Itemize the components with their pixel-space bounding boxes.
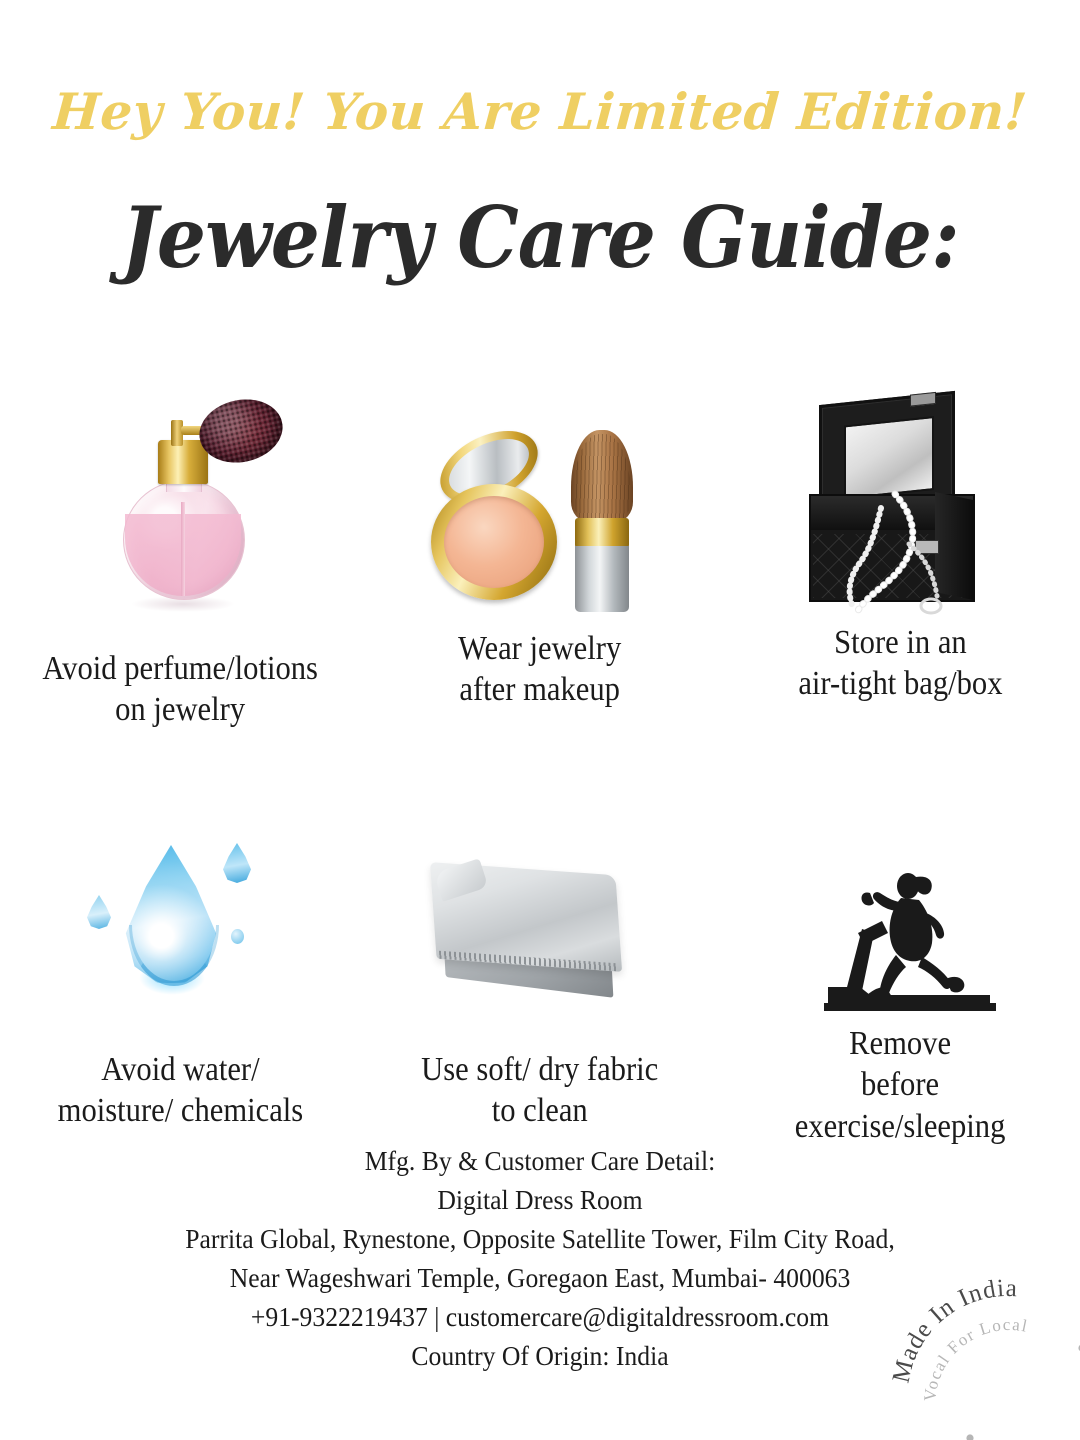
droplet-small-left bbox=[87, 895, 111, 929]
tip-caption: Avoid water/ moisture/ chemicals bbox=[57, 1049, 303, 1132]
care-guide-page: Hey You! You Are Limited Edition! Jewelr… bbox=[0, 0, 1080, 1440]
footer-line: Mfg. By & Customer Care Detail: bbox=[27, 1142, 1053, 1181]
droplet-small-top bbox=[223, 843, 251, 883]
tips-grid: Avoid perfume/lotions on jewelry Wear je… bbox=[0, 372, 1080, 1147]
tips-row-2: Avoid water/ moisture/ chemicals Use sof… bbox=[0, 823, 1080, 1147]
treadmill-runner-icon bbox=[720, 823, 1080, 1023]
tip-caption: Remove before exercise/sleeping bbox=[795, 1023, 1006, 1147]
made-in-india-badge: Made In India Vocal For Local bbox=[886, 1262, 1080, 1440]
tip-card-soft-cloth: Use soft/ dry fabric to clean bbox=[360, 823, 720, 1147]
compact-powder-base bbox=[431, 484, 557, 600]
tip-caption: Wear jewelry after makeup bbox=[458, 628, 621, 711]
tip-caption: Use soft/ dry fabric to clean bbox=[421, 1049, 658, 1132]
brush-bristles bbox=[571, 430, 633, 522]
tip-card-remove-before-exercise: Remove before exercise/sleeping bbox=[720, 823, 1080, 1147]
badge-dot-left bbox=[966, 1434, 973, 1440]
page-title: Jewelry Care Guide: bbox=[43, 188, 1037, 287]
perfume-gold-collar bbox=[158, 440, 208, 484]
jewelry-box-icon bbox=[720, 372, 1080, 622]
tagline: Hey You! You Are Limited Edition! bbox=[0, 82, 1080, 141]
perfume-tube bbox=[181, 502, 185, 596]
tip-card-avoid-perfume: Avoid perfume/lotions on jewelry bbox=[0, 372, 360, 731]
polishing-cloth-icon bbox=[360, 823, 720, 1023]
footer-line: Parrita Global, Rynestone, Opposite Sate… bbox=[27, 1220, 1053, 1259]
brush-gold-ferrule bbox=[575, 518, 629, 548]
tips-row-1: Avoid perfume/lotions on jewelry Wear je… bbox=[0, 372, 1080, 731]
perfume-atomizer-icon bbox=[0, 372, 360, 622]
water-droplet-icon bbox=[0, 823, 360, 1023]
brush-silver-handle bbox=[575, 546, 629, 612]
tip-caption: Store in an air-tight bag/box bbox=[798, 622, 1002, 705]
jewelry-box-clasp bbox=[910, 392, 936, 407]
tip-caption: Avoid perfume/lotions on jewelry bbox=[42, 648, 318, 731]
jewelry-box-mirror bbox=[844, 416, 934, 499]
tip-card-avoid-water: Avoid water/ moisture/ chemicals bbox=[0, 823, 360, 1147]
tip-card-store-airtight: Store in an air-tight bag/box bbox=[720, 372, 1080, 731]
pearl-necklace bbox=[841, 488, 951, 616]
tip-card-wear-after-makeup: Wear jewelry after makeup bbox=[360, 372, 720, 731]
droplet-small-right bbox=[231, 929, 244, 944]
makeup-compact-brush-icon bbox=[360, 372, 720, 622]
footer-line: Digital Dress Room bbox=[27, 1181, 1053, 1220]
